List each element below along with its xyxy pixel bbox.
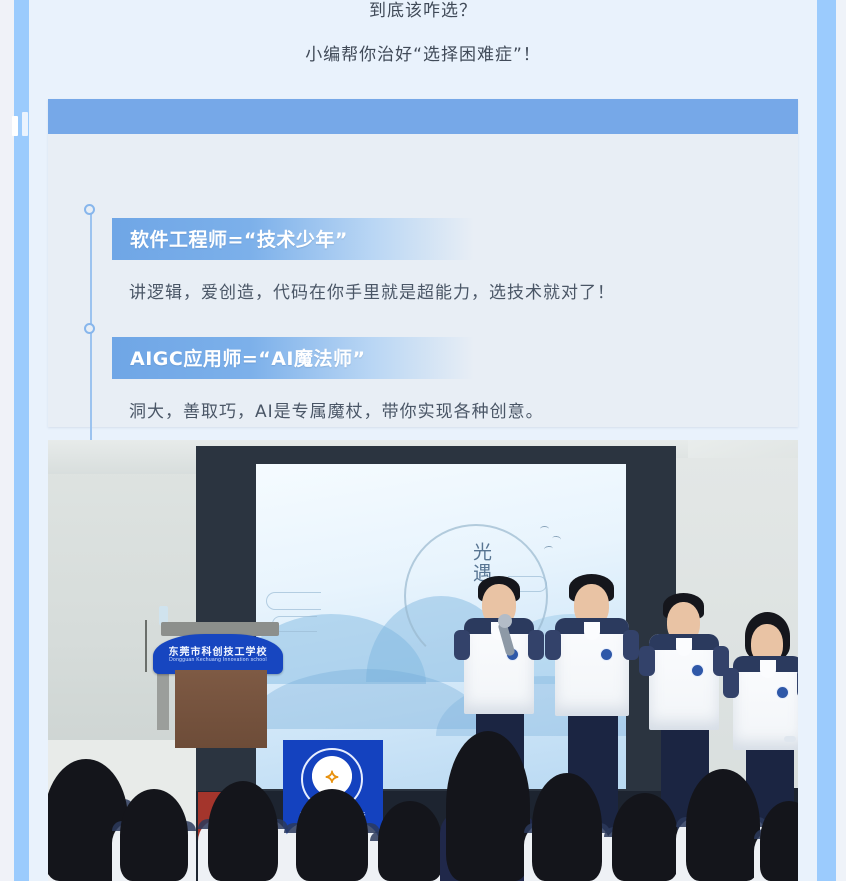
list-item: AIGC应用师=“AI魔法师” 洞大，善取巧，AI是专属魔杖，带你实现各种创意。 (112, 337, 788, 425)
audience-member (440, 723, 536, 881)
sleeve-right (623, 630, 639, 660)
entry-description: 讲逻辑，爱创造，代码在你手里就是超能力，选技术就对了！ (129, 280, 788, 306)
hair (120, 789, 188, 881)
hair (446, 731, 530, 881)
lead-text-block: 到底该咋选？ 小编帮你治好“选择困难症”！ (29, 0, 817, 72)
school-badge-icon (776, 686, 789, 699)
entry-title: AIGC应用师=“AI魔法师” (130, 348, 365, 370)
card-body: 软件工程师=“技术少年” 讲逻辑，爱创造，代码在你手里就是超能力，选技术就对了！… (48, 134, 798, 427)
hair (378, 801, 442, 881)
right-accent-rail (817, 0, 836, 881)
collar-opening (584, 622, 600, 640)
career-options-card: 软件工程师=“技术少年” 讲逻辑，爱创造，代码在你手里就是超能力，选技术就对了！… (48, 99, 798, 427)
sleeve-left (639, 646, 655, 676)
sleeve-left (723, 668, 739, 698)
hair (760, 801, 798, 881)
article-canvas: 到底该咋选？ 小编帮你治好“选择困难症”！ 软件工程师=“技术少年” 讲逻辑，爱… (29, 0, 817, 881)
collar-opening (676, 638, 692, 656)
school-badge-icon (600, 648, 613, 661)
sleeve-right (528, 630, 544, 660)
audience-member (370, 777, 450, 881)
podium-school-name-en: Dongguan Kechuang Innovation school (153, 657, 283, 663)
hair (208, 781, 278, 881)
audience-row (48, 721, 798, 881)
podium-school-name-cn: 东莞市科创技工学校 (153, 643, 283, 658)
timeline-dot-icon (84, 204, 95, 215)
sleeve-left (545, 630, 561, 660)
audience-member (604, 769, 686, 881)
list-item: 软件工程师=“技术少年” 讲逻辑，爱创造，代码在你手里就是超能力，选技术就对了！ (112, 218, 788, 306)
slide-bird-icon (552, 535, 562, 542)
lead-line-1: 到底该咋选？ (29, 0, 817, 28)
hair (686, 769, 760, 881)
hair (532, 773, 602, 881)
slide-cloud-icon (266, 592, 321, 610)
school-badge-icon (691, 664, 704, 677)
entry-title-banner: 软件工程师=“技术少年” (112, 218, 474, 260)
lead-line-2: 小编帮你治好“选择困难症”！ (29, 38, 817, 72)
photo-scene: 光遇 东莞市科创技工学校 (48, 440, 798, 881)
uniform-shirt (555, 618, 629, 716)
audience-member (284, 761, 380, 881)
microphone-head (498, 614, 512, 628)
hair (296, 789, 368, 881)
slide-bird-icon (544, 546, 554, 553)
tick-mark-icon (22, 112, 28, 136)
collar-opening (760, 660, 776, 678)
podium-name-banner: 东莞市科创技工学校 Dongguan Kechuang Innovation s… (153, 634, 283, 674)
uniform-shirt (649, 634, 719, 730)
entry-title-banner: AIGC应用师=“AI魔法师” (112, 337, 474, 379)
presentation-photo: 光遇 东莞市科创技工学校 (48, 440, 798, 881)
audience-member (198, 753, 288, 881)
entry-title: 软件工程师=“技术少年” (130, 229, 348, 251)
timeline-dot-icon (84, 323, 95, 334)
card-header-bar (48, 99, 798, 134)
audience-member (754, 777, 798, 881)
slide-bird-icon (540, 526, 549, 532)
entry-description: 洞大，善取巧，AI是专属魔杖，带你实现各种创意。 (129, 399, 788, 425)
audience-member (524, 749, 610, 881)
hair (612, 793, 678, 881)
audience-member (112, 769, 196, 881)
right-outer-margin (836, 0, 846, 881)
article-page: 到底该咋选？ 小编帮你治好“选择困难症”！ 软件工程师=“技术少年” 讲逻辑，爱… (0, 0, 846, 881)
microphone-stand (145, 620, 147, 672)
sleeve-left (454, 630, 470, 660)
sleeve-right (797, 668, 798, 698)
tick-mark-icon (12, 116, 18, 136)
